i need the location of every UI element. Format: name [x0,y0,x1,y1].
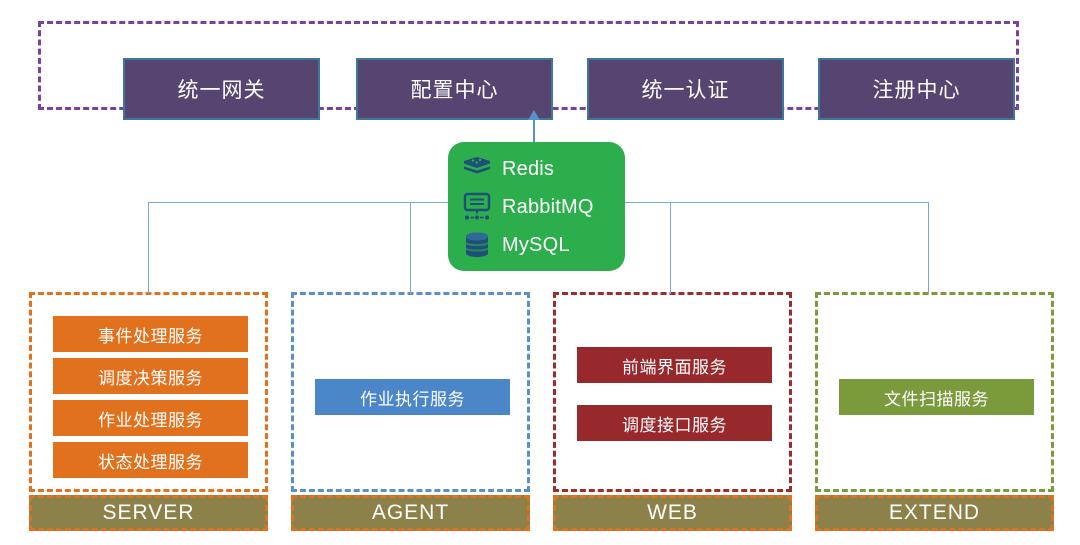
module-footer-server: SERVER [29,495,268,531]
middleware-label: RabbitMQ [502,196,594,219]
module-web: 前端界面服务 调度接口服务 [553,292,792,492]
service-label: 状态处理服务 [98,448,203,473]
service-box[interactable]: 作业处理服务 [53,400,248,436]
platform-box-auth[interactable]: 统一认证 [587,58,784,120]
service-label: 作业执行服务 [360,385,465,410]
middleware-row-redis: Redis [460,150,625,188]
mysql-database-icon [460,230,494,260]
middleware-row-rabbitmq: RabbitMQ [460,188,625,226]
module-footer-extend: EXTEND [815,495,1054,531]
service-label: 文件扫描服务 [884,385,989,410]
middleware-card[interactable]: Redis RabbitMQ [448,142,625,271]
service-label: 调度决策服务 [98,364,203,389]
module-footer-label: SERVER [103,501,195,525]
platform-box-label: 配置中心 [411,74,499,104]
service-label: 调度接口服务 [622,411,727,436]
platform-box-label: 统一网关 [178,74,266,104]
module-footer-label: AGENT [372,501,449,525]
module-footer-web: WEB [553,495,792,531]
module-server: 事件处理服务 调度决策服务 作业处理服务 状态处理服务 [29,292,268,492]
service-box[interactable]: 文件扫描服务 [839,379,1034,415]
connector-drop-server [148,202,149,294]
platform-box-label: 统一认证 [642,74,730,104]
service-box[interactable]: 事件处理服务 [53,316,248,352]
service-box[interactable]: 前端界面服务 [577,347,772,383]
rabbitmq-message-icon [460,192,494,222]
service-label: 作业处理服务 [98,406,203,431]
service-box[interactable]: 状态处理服务 [53,442,248,478]
module-footer-label: EXTEND [889,501,980,525]
module-extend: 文件扫描服务 [815,292,1054,492]
connector-drop-extend [928,202,929,294]
module-footer-label: WEB [647,501,698,525]
middleware-label: MySQL [502,234,570,257]
platform-group-frame: 统一网关 配置中心 统一认证 注册中心 [38,21,1019,110]
redis-stack-icon [460,154,494,184]
module-agent: 作业执行服务 [291,292,530,492]
platform-box-label: 注册中心 [873,74,961,104]
connector-drop-agent [410,202,411,294]
connector-drop-web [670,202,671,294]
middleware-label: Redis [502,158,554,181]
service-label: 前端界面服务 [622,353,727,378]
platform-box-gateway[interactable]: 统一网关 [123,58,320,120]
platform-box-registry[interactable]: 注册中心 [818,58,1015,120]
service-box[interactable]: 调度决策服务 [53,358,248,394]
platform-box-config-center[interactable]: 配置中心 [356,58,553,120]
service-box[interactable]: 调度接口服务 [577,405,772,441]
service-label: 事件处理服务 [98,322,203,347]
middleware-row-mysql: MySQL [460,226,625,264]
module-footer-agent: AGENT [291,495,530,531]
architecture-diagram: 统一网关 配置中心 统一认证 注册中心 [0,0,1080,545]
service-box[interactable]: 作业执行服务 [315,379,510,415]
